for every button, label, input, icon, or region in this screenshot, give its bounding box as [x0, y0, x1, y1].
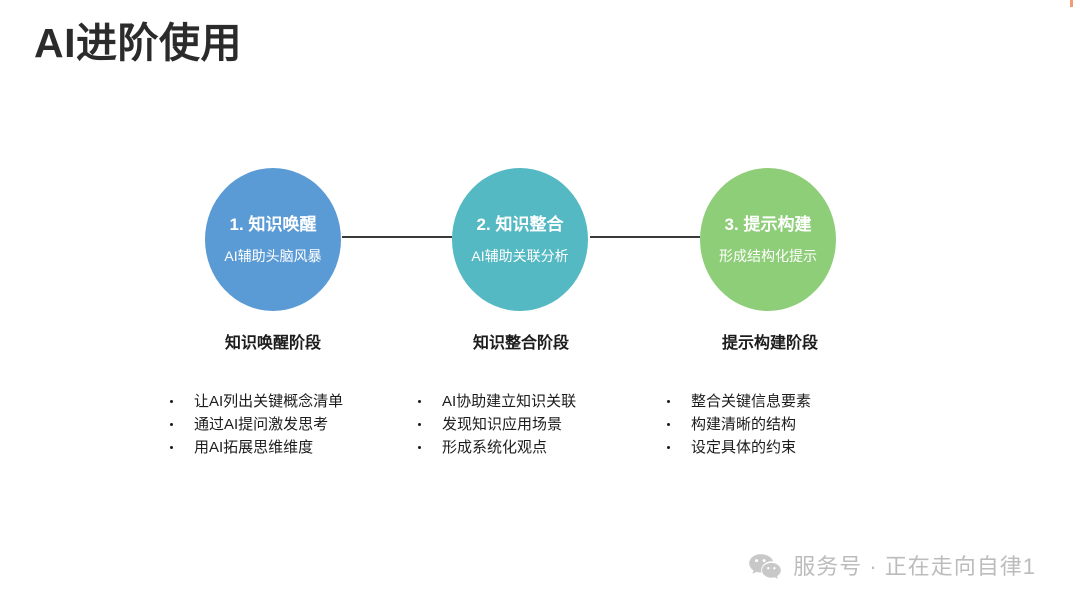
list-item: 让AI列出关键概念清单	[166, 390, 398, 413]
bullet-icon	[170, 400, 173, 403]
bullet-icon	[667, 423, 670, 426]
flow-node-subtitle: 形成结构化提示	[719, 249, 817, 263]
list-item-label: 用AI拓展思维维度	[194, 439, 313, 456]
bullet-icon	[667, 400, 670, 403]
list-item: AI协助建立知识关联	[414, 390, 646, 413]
list-item-label: AI协助建立知识关联	[442, 393, 576, 410]
list-item-label: 发现知识应用场景	[442, 416, 562, 433]
stage-column-knowledge-awakening: 知识唤醒阶段 让AI列出关键概念清单 通过AI提问激发思考 用AI拓展思维维度	[148, 336, 398, 459]
stage-heading: 知识唤醒阶段	[148, 336, 398, 352]
flow-node-subtitle: AI辅助关联分析	[471, 249, 568, 263]
bullet-icon	[170, 423, 173, 426]
stage-heading: 提示构建阶段	[645, 336, 895, 352]
footer-watermark: 服务号 · 正在走向自律1	[748, 553, 1036, 581]
list-item-label: 构建清晰的结构	[691, 416, 796, 433]
list-item: 设定具体的约束	[663, 436, 895, 459]
list-item-label: 设定具体的约束	[691, 439, 796, 456]
bullet-icon	[170, 446, 173, 449]
flow-diagram: 1. 知识唤醒 AI辅助头脑风暴 2. 知识整合 AI辅助关联分析 3. 提示构…	[0, 160, 1080, 320]
list-item-label: 让AI列出关键概念清单	[194, 393, 343, 410]
stage-column-knowledge-integration: 知识整合阶段 AI协助建立知识关联 发现知识应用场景 形成系统化观点	[396, 336, 646, 459]
slide-canvas: AI进阶使用 1. 知识唤醒 AI辅助头脑风暴 2. 知识整合 AI辅助关联分析…	[0, 0, 1080, 607]
corner-accent-mark	[1070, 0, 1073, 7]
list-item-label: 通过AI提问激发思考	[194, 416, 328, 433]
connector-line-1-2	[342, 236, 452, 238]
list-item-label: 整合关键信息要素	[691, 393, 811, 410]
list-item: 通过AI提问激发思考	[166, 413, 398, 436]
flow-node-knowledge-integration[interactable]: 2. 知识整合 AI辅助关联分析	[452, 168, 588, 311]
bullet-icon	[418, 446, 421, 449]
list-item: 构建清晰的结构	[663, 413, 895, 436]
stage-column-prompt-construction: 提示构建阶段 整合关键信息要素 构建清晰的结构 设定具体的约束	[645, 336, 895, 459]
bullet-icon	[418, 423, 421, 426]
bullet-icon	[418, 400, 421, 403]
stage-bullet-list: 整合关键信息要素 构建清晰的结构 设定具体的约束	[663, 390, 895, 459]
flow-node-knowledge-awakening[interactable]: 1. 知识唤醒 AI辅助头脑风暴	[205, 168, 341, 311]
flow-node-title: 1. 知识唤醒	[230, 216, 317, 233]
list-item: 整合关键信息要素	[663, 390, 895, 413]
flow-node-title: 2. 知识整合	[477, 216, 564, 233]
list-item: 发现知识应用场景	[414, 413, 646, 436]
list-item-label: 形成系统化观点	[442, 439, 547, 456]
flow-node-prompt-construction[interactable]: 3. 提示构建 形成结构化提示	[700, 168, 836, 311]
bullet-icon	[667, 446, 670, 449]
connector-line-2-3	[590, 236, 700, 238]
stage-bullet-list: AI协助建立知识关联 发现知识应用场景 形成系统化观点	[414, 390, 646, 459]
stage-bullet-list: 让AI列出关键概念清单 通过AI提问激发思考 用AI拓展思维维度	[166, 390, 398, 459]
page-title: AI进阶使用	[34, 20, 242, 67]
list-item: 形成系统化观点	[414, 436, 646, 459]
list-item: 用AI拓展思维维度	[166, 436, 398, 459]
wechat-icon	[748, 553, 782, 581]
flow-node-title: 3. 提示构建	[725, 216, 812, 233]
footer-account-name: 服务号 · 正在走向自律1	[793, 556, 1036, 578]
stage-heading: 知识整合阶段	[396, 336, 646, 352]
flow-node-subtitle: AI辅助头脑风暴	[224, 249, 321, 263]
